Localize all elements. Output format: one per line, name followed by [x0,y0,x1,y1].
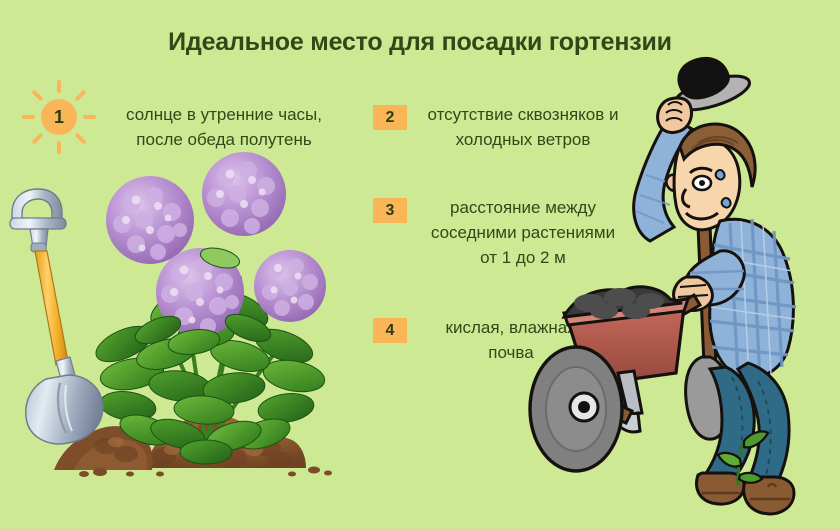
gardener-hand-upper [658,98,692,133]
infographic-canvas: Идеальное место для посадки гортензии 1 … [0,0,840,529]
sun-ray-icon [22,115,35,119]
sun-ray-icon [57,141,61,154]
sun-ray-icon [75,133,87,145]
sun-ray-icon [83,115,96,119]
item-3-number: 3 [386,202,395,220]
item-1-line-2: после обеда полутень [100,127,348,152]
page-title: Идеальное место для посадки гортензии [0,28,840,57]
hydrangea-flower-cluster [106,152,326,336]
item-1-line-1: солнце в утренние часы, [100,102,348,127]
sun-ray-icon [75,89,87,101]
garden-shovel-illustration [0,185,120,445]
gardener-with-wheelbarrow-illustration [598,55,840,529]
sun-ray-icon [31,133,43,145]
sun-ray-icon [57,80,61,93]
item-2-number: 2 [386,109,395,127]
sun-ray-icon [31,89,43,101]
item-4-number: 4 [386,322,395,340]
item-1-number: 1 [41,99,77,135]
item-1-text: солнце в утренние часы, после обеда полу… [100,102,348,152]
sun-icon: 1 [22,80,96,154]
hydrangea-bush-illustration [88,158,328,458]
